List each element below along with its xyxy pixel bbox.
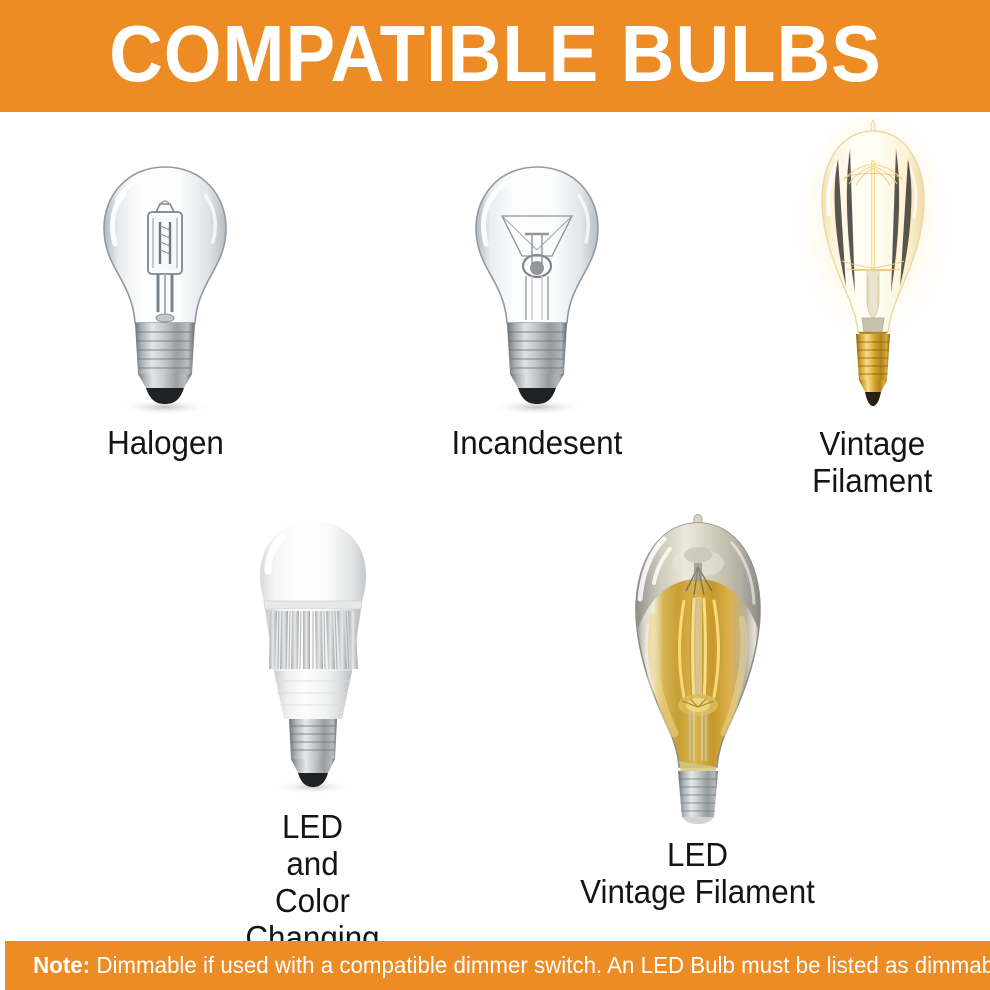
bulb-card-incandescent: Incandesent bbox=[412, 160, 662, 462]
bulb-caption-halogen: Halogen bbox=[107, 425, 224, 462]
vintage-filament-bulb-icon bbox=[798, 118, 948, 418]
dimmable-note: Note: Dimmable if used with a compatible… bbox=[5, 954, 990, 977]
note-label: Note: bbox=[33, 952, 90, 978]
bulb-caption-incandescent: Incandesent bbox=[452, 425, 623, 462]
footer-note-bar: Note: Dimmable if used with a compatible… bbox=[5, 941, 990, 990]
led-bulb-icon bbox=[238, 515, 388, 795]
page-title: COMPATIBLE BULBS bbox=[109, 14, 882, 94]
incandescent-bulb-icon bbox=[462, 160, 612, 415]
bulb-card-led-color-changing: LED and Color Changing bbox=[200, 515, 425, 957]
bulb-caption-led-color-changing: LED and Color Changing bbox=[206, 809, 420, 957]
compatible-bulbs-infographic: COMPATIBLE BULBS bbox=[0, 0, 990, 990]
bulb-card-led-vintage-filament: LED Vintage Filament bbox=[570, 505, 825, 911]
bulb-card-halogen: Halogen bbox=[50, 160, 280, 462]
halogen-bulb-icon bbox=[90, 160, 240, 415]
led-vintage-filament-bulb-icon bbox=[608, 505, 788, 825]
bulb-card-vintage-filament: Vintage Filament bbox=[760, 118, 985, 500]
header-bar: COMPATIBLE BULBS bbox=[0, 0, 990, 112]
bulb-caption-vintage-filament: Vintage Filament bbox=[812, 426, 932, 500]
bulb-caption-led-vintage-filament: LED Vintage Filament bbox=[580, 837, 815, 911]
note-text: Dimmable if used with a compatible dimme… bbox=[90, 952, 990, 978]
